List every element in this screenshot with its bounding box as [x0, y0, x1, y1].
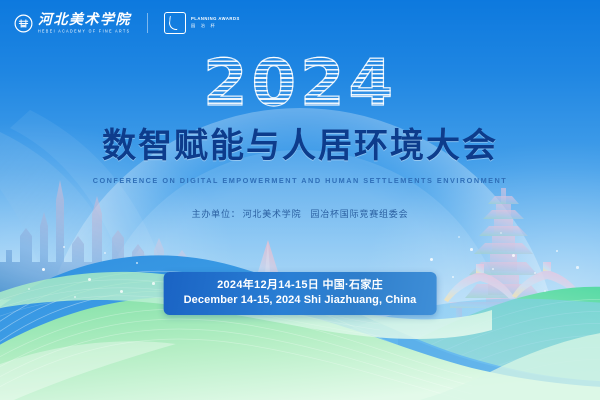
- university-name-en: HEBEI ACADEMY OF FINE ARTS: [38, 30, 131, 34]
- logo-divider: [147, 13, 148, 33]
- date-location-cn: 2024年12月14-15日 中国·石家庄: [184, 278, 417, 293]
- seal-emblem-icon: [14, 14, 33, 33]
- award-logo[interactable]: PLANNING AWARDS 园 冶 杯: [164, 12, 240, 34]
- university-logo[interactable]: 河北美术学院 HEBEI ACADEMY OF FINE ARTS: [14, 13, 131, 34]
- university-name-cn: 河北美术学院: [38, 13, 131, 27]
- year-heading-wrap: 2024: [0, 52, 600, 116]
- main-title-cn: 数智赋能与人居环境大会: [0, 128, 600, 165]
- organizer-name-2: 园冶杯国际竞赛组委会: [310, 209, 408, 219]
- date-location-badge: 2024年12月14-15日 中国·石家庄 December 14-15, 20…: [164, 272, 437, 315]
- header-logos: 河北美术学院 HEBEI ACADEMY OF FINE ARTS PLANNI…: [14, 12, 240, 34]
- organizer-name-1: 河北美术学院: [243, 209, 302, 219]
- planning-awards-mark-icon: [164, 12, 186, 34]
- organizer-line: 主办单位：河北美术学院园冶杯国际竞赛组委会: [0, 207, 600, 220]
- conference-banner: 河北美术学院 HEBEI ACADEMY OF FINE ARTS PLANNI…: [0, 0, 600, 400]
- date-location-en: December 14-15, 2024 Shi Jiazhuang, Chin…: [184, 293, 417, 308]
- award-name-en: PLANNING AWARDS: [191, 17, 240, 22]
- year-heading: 2024: [203, 52, 397, 116]
- award-name-cn: 园 冶 杯: [191, 24, 240, 29]
- organizer-label: 主办单位：: [192, 209, 241, 219]
- main-title-en: CONFERENCE ON DIGITAL EMPOWERMENT AND HU…: [0, 176, 600, 185]
